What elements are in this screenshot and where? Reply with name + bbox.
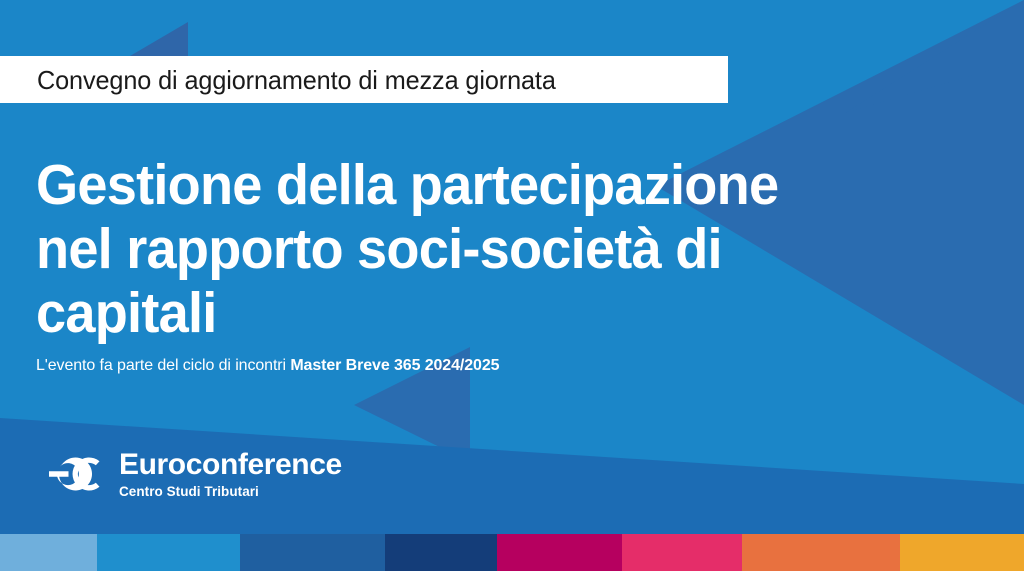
headline-line-3: capitali bbox=[36, 282, 929, 346]
eyebrow-text: Convegno di aggiornamento di mezza giorn… bbox=[37, 67, 556, 93]
color-strip-segment-orange bbox=[742, 534, 900, 571]
headline-line-2: nel rapporto soci-società di bbox=[36, 218, 929, 282]
color-strip-segment-light-blue bbox=[0, 534, 97, 571]
brand-logo: Euroconference Centro Studi Tributari bbox=[38, 450, 342, 499]
color-strip-segment-amber bbox=[900, 534, 1024, 571]
logo-name: Euroconference bbox=[119, 450, 342, 480]
brand-color-strip bbox=[0, 534, 1024, 571]
color-strip-segment-magenta bbox=[497, 534, 622, 571]
logo-wordmark: Euroconference Centro Studi Tributari bbox=[119, 450, 342, 499]
subtitle: L'evento fa parte del ciclo di incontri … bbox=[36, 356, 499, 375]
ec-monogram-icon bbox=[38, 451, 108, 497]
logo-tagline: Centro Studi Tributari bbox=[119, 485, 342, 499]
subtitle-series-name: Master Breve 365 2024/2025 bbox=[290, 357, 499, 374]
color-strip-segment-sky-blue bbox=[97, 534, 240, 571]
subtitle-lead: L'evento fa parte del ciclo di incontri bbox=[36, 357, 290, 374]
headline-line-1: Gestione della partecipazione bbox=[36, 154, 929, 218]
color-strip-segment-pink bbox=[622, 534, 742, 571]
event-banner: Convegno di aggiornamento di mezza giorn… bbox=[0, 0, 1024, 571]
color-strip-segment-navy-blue bbox=[385, 534, 497, 571]
color-strip-segment-medium-blue bbox=[240, 534, 385, 571]
page-title: Gestione della partecipazione nel rappor… bbox=[36, 154, 929, 345]
eyebrow-band: Convegno di aggiornamento di mezza giorn… bbox=[0, 56, 728, 103]
